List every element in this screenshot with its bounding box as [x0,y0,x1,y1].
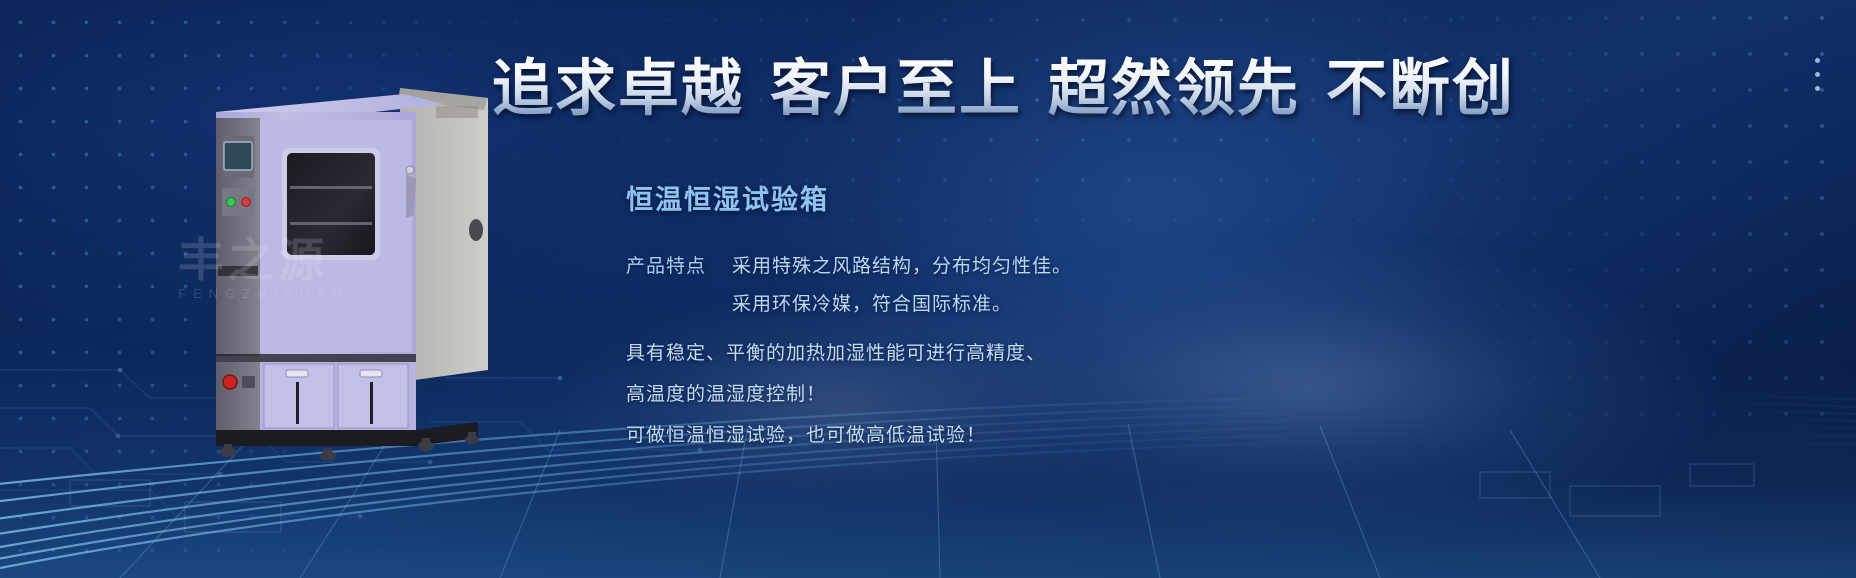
test-chamber-illustration [168,70,498,460]
control-touchscreen [224,142,252,170]
start-button [227,198,236,207]
viewing-window [287,153,375,255]
lower-door-handle-left [286,370,308,377]
dot-1 [1815,58,1820,63]
detail-line-3: 可做恒温恒湿试验，也可做高低温试验！ [626,420,1266,447]
shelf-upper [290,186,372,189]
feature-line-1: 采用特殊之风路结构，分布均匀性佳。 [732,251,1072,278]
door-latch [406,166,414,174]
stop-button [242,198,251,207]
features-lines: 采用特殊之风路结构，分布均匀性佳。 采用环保冷媒，符合国际标准。 [732,251,1072,316]
product-copy-block: 恒温恒湿试验箱 产品特点 采用特殊之风路结构，分布均匀性佳。 采用环保冷媒，符合… [626,178,1266,447]
lower-socket [242,376,255,388]
product-title: 恒温恒湿试验箱 [626,178,1266,217]
headline-phrase-1: 追求卓越 [492,58,744,119]
product-banner: 丰之源 FENGZHIYUAN 追求卓越 客户至上 超然领先 不断创新 恒温恒湿… [0,0,1856,578]
headline-phrase-2: 客户至上 [770,58,1022,119]
feature-line-2: 采用环保冷媒，符合国际标准。 [732,289,1072,316]
dot-3 [1815,86,1820,91]
features-label: 产品特点 [626,251,706,278]
headline-phrase-4: 不断创新 [1326,58,1578,119]
lower-control-column [216,362,260,430]
lower-door-handle-right [360,370,382,377]
detail-line-2: 高温度的温湿度控制！ [626,379,1266,406]
headline: 追求卓越 客户至上 超然领先 不断创新 [492,52,1512,124]
dot-2 [1815,72,1820,77]
features-row: 产品特点 采用特殊之风路结构，分布均匀性佳。 采用环保冷媒，符合国际标准。 [626,251,1266,316]
rear-knob [469,219,483,241]
detail-paragraph: 具有稳定、平衡的加热加湿性能可进行高精度、 高温度的温湿度控制！ 可做恒温恒湿试… [626,338,1266,447]
headline-phrase-3: 超然领先 [1048,58,1300,119]
rear-vent-grille [436,106,478,118]
detail-line-1: 具有稳定、平衡的加热加湿性能可进行高精度、 [626,338,1266,365]
right-dot-column-decoration [1815,58,1820,91]
emergency-stop-button [223,375,237,389]
shelf-lower [290,222,372,225]
